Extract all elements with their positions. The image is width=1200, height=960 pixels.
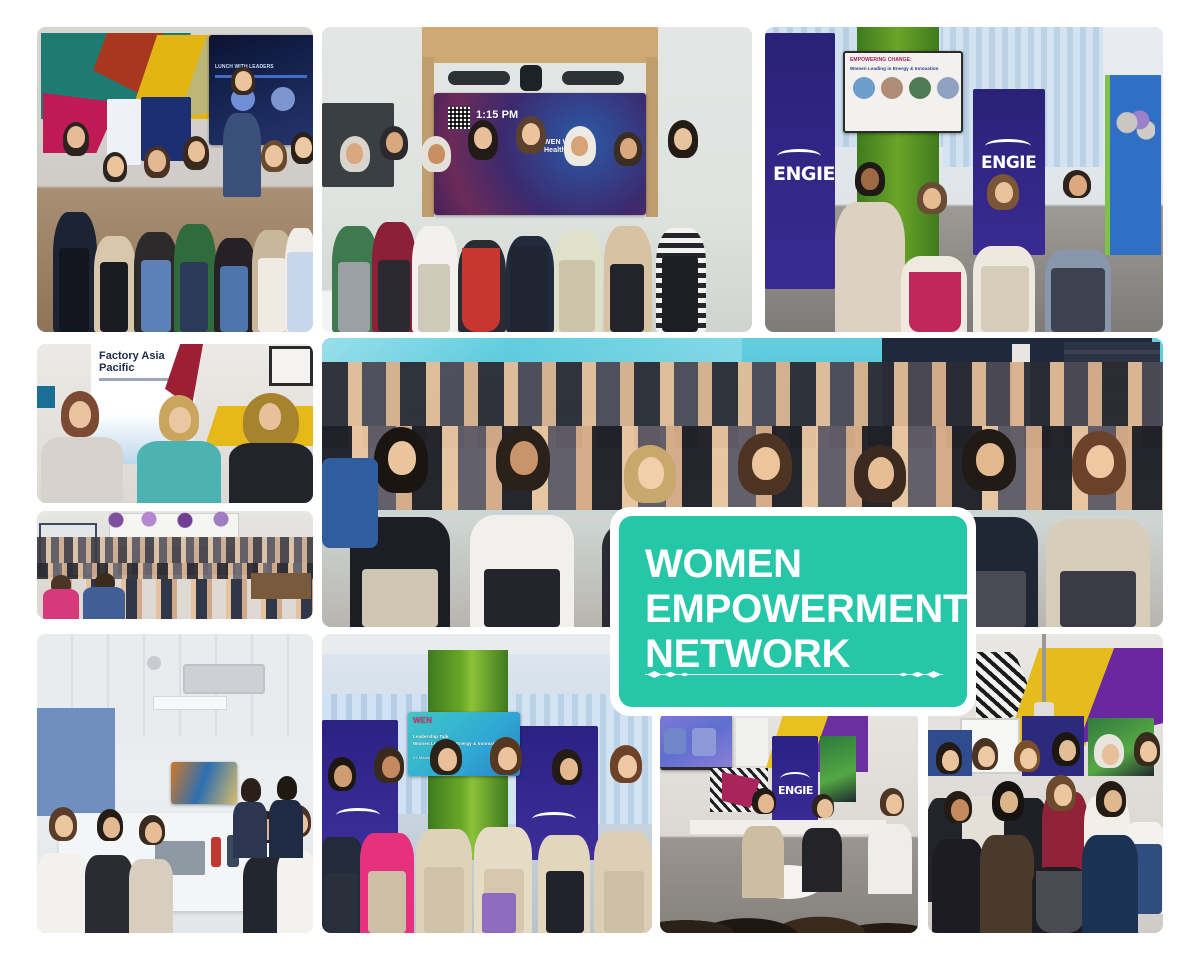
- ceiling-light: [153, 696, 227, 710]
- person: [43, 575, 79, 619]
- person: [973, 174, 1035, 332]
- speaker-photo: [853, 77, 875, 99]
- person: [458, 120, 506, 332]
- person: [538, 749, 590, 933]
- screen-avatar-2: [271, 87, 295, 111]
- person: [835, 162, 905, 332]
- badge-line-2: EMPOWERMENT: [645, 587, 943, 632]
- person: [285, 132, 313, 332]
- person: [656, 120, 706, 332]
- photo-bottom-center-right: ENGIE: [660, 712, 918, 933]
- person: [360, 747, 414, 933]
- banner-subtext: [99, 378, 179, 381]
- badge-panel: WOMEN EMPOWERMENT NETWORK: [619, 516, 967, 707]
- balloons: [101, 511, 251, 529]
- person: [932, 791, 984, 933]
- person: [85, 809, 133, 933]
- person: [51, 122, 99, 332]
- blue-window-blind: [37, 708, 115, 816]
- person: [604, 132, 652, 332]
- person: [93, 152, 137, 332]
- photo-collage: LUNCH WITH LEADERS: [0, 0, 1200, 960]
- engie-banner-left: ENGIE: [765, 33, 835, 289]
- person: [1082, 781, 1138, 933]
- person: [506, 116, 554, 332]
- speaker-photo: [881, 77, 903, 99]
- person: [1045, 170, 1111, 332]
- table: [251, 573, 311, 599]
- speaker-photo: [937, 77, 959, 99]
- badge-line-1: WOMEN: [645, 542, 943, 587]
- screen-subtitle: Women Leading in Energy & Innovation: [850, 66, 939, 71]
- presentation-screen: [660, 714, 732, 770]
- person: [901, 182, 967, 332]
- photo-bottom-center: WEN Leadership Talk Women Leading in Ene…: [322, 634, 652, 933]
- badge-divider-rule: [645, 670, 943, 679]
- person: [416, 739, 472, 933]
- women-empowerment-network-badge: WOMEN EMPOWERMENT NETWORK: [610, 507, 976, 716]
- video-tile: [692, 728, 716, 756]
- screen-title: EMPOWERING CHANGE:: [850, 58, 912, 64]
- speaker-bar-left: [448, 71, 510, 85]
- person: [269, 776, 303, 858]
- long-table: [690, 820, 886, 834]
- person: [223, 67, 263, 197]
- photo-top-right: ENGIE ENGIE EMPOWERING CHANGE: Women Lea…: [765, 27, 1163, 332]
- screen-brand: WEN: [413, 716, 432, 725]
- person: [322, 757, 364, 933]
- audience-heads: [660, 871, 918, 933]
- water-bottle: [211, 837, 221, 867]
- engie-wordmark: ENGIE: [773, 163, 835, 185]
- gift-bag: [482, 893, 516, 933]
- video-tile: [664, 728, 686, 754]
- person: [41, 391, 123, 503]
- person: [554, 126, 602, 332]
- blue-door: [1105, 75, 1161, 255]
- photo-bottom-left: [37, 634, 313, 933]
- person: [173, 136, 217, 332]
- balloons: [1115, 109, 1155, 143]
- ceiling-ac-vent: [183, 664, 265, 694]
- blue-chair: [322, 458, 378, 548]
- framed-picture: [269, 346, 313, 386]
- photo-top-left: LUNCH WITH LEADERS: [37, 27, 313, 332]
- person: [83, 573, 125, 619]
- engie-wordmark: ENGIE: [981, 153, 1036, 173]
- person: [412, 136, 458, 332]
- person: [137, 395, 221, 503]
- smoke-detector: [147, 656, 161, 670]
- person: [129, 815, 173, 933]
- green-artwork: [820, 736, 856, 802]
- camera-icon: [520, 65, 542, 91]
- person: [37, 807, 89, 933]
- person: [594, 745, 652, 933]
- photo-mid-left-lower: [37, 511, 313, 619]
- whiteboard: [736, 718, 768, 766]
- person: [1046, 431, 1150, 627]
- presentation-screen: EMPOWERING CHANGE: Women Leading in Ener…: [843, 51, 963, 133]
- badge-text: WOMEN EMPOWERMENT NETWORK: [645, 542, 943, 677]
- person: [372, 126, 416, 332]
- wood-cabinet: [422, 27, 658, 63]
- pendant-light: [1042, 634, 1046, 706]
- speaker-bar-right: [562, 71, 624, 85]
- photo-mid-left-upper: Factory Asia Pacific: [37, 344, 313, 503]
- person: [229, 393, 313, 503]
- person: [1032, 775, 1088, 933]
- person: [233, 778, 267, 858]
- speaker-photo: [909, 77, 931, 99]
- video-call-screen: [171, 762, 237, 804]
- person: [470, 427, 574, 627]
- photo-top-center: 1:15 PM WEN Women's Health Talk: [322, 27, 752, 332]
- person: [980, 781, 1034, 933]
